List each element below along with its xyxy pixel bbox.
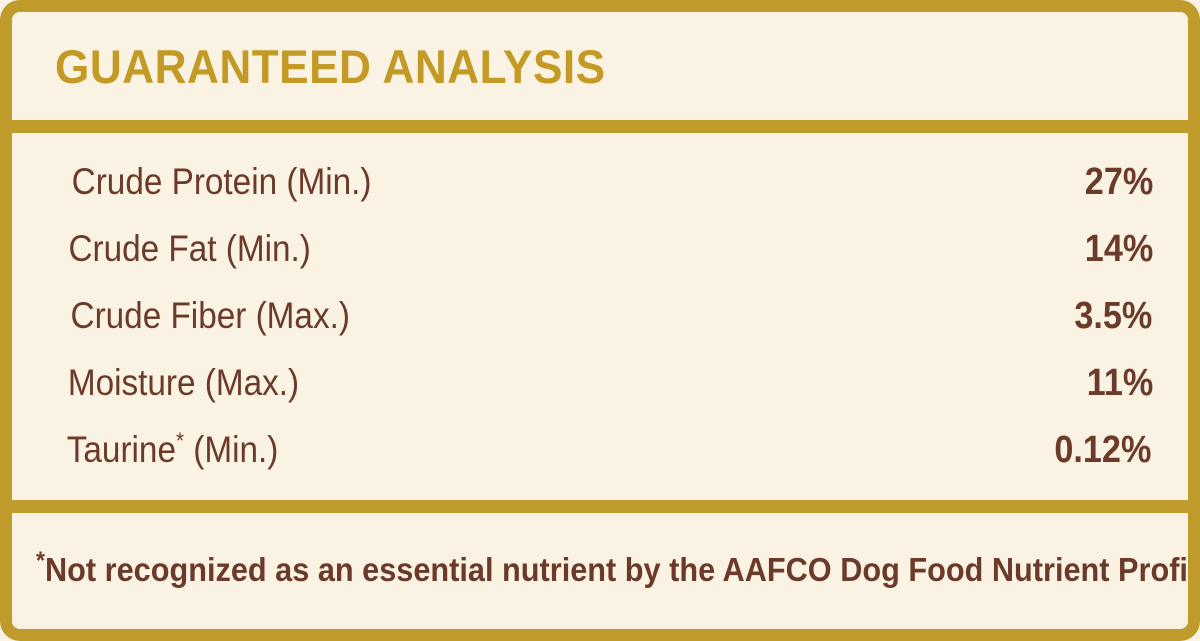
footnote-marker-icon: * [36, 548, 45, 575]
footnote-section: *Not recognized as an essential nutrient… [12, 513, 1188, 626]
nutrient-label: Taurine* (Min.) [67, 431, 279, 468]
footnote: *Not recognized as an essential nutrient… [36, 553, 1200, 586]
table-row: Crude Fiber (Max.) 3.5% [55, 297, 1157, 364]
nutrient-value: 11% [1087, 364, 1154, 402]
nutrient-value: 0.12% [1055, 431, 1152, 469]
nutrient-label: Crude Fiber (Max.) [71, 297, 350, 334]
header-divider [12, 120, 1188, 133]
analysis-table: Crude Protein (Min.) 27% Crude Fat (Min.… [12, 133, 1188, 500]
nutrient-label-text: Taurine [67, 429, 176, 470]
table-row: Crude Fat (Min.) 14% [55, 230, 1157, 297]
page-title: GUARANTEED ANALYSIS [55, 43, 606, 90]
footnote-divider [12, 500, 1188, 513]
table-row: Crude Protein (Min.) 27% [55, 163, 1157, 230]
guaranteed-analysis-panel: GUARANTEED ANALYSIS Crude Protein (Min.)… [0, 0, 1200, 641]
table-row: Taurine* (Min.) 0.12% [55, 431, 1157, 498]
panel-header: GUARANTEED ANALYSIS [12, 12, 1188, 120]
nutrient-value: 27% [1085, 163, 1153, 201]
footnote-body: Not recognized as an essential nutrient … [45, 551, 1200, 588]
nutrient-label-suffix: (Min.) [184, 429, 278, 470]
nutrient-label: Crude Fat (Min.) [68, 230, 310, 267]
nutrient-value: 14% [1085, 230, 1153, 268]
table-row: Moisture (Max.) 11% [55, 364, 1157, 431]
nutrient-label: Moisture (Max.) [68, 364, 299, 401]
nutrient-value: 3.5% [1075, 297, 1153, 335]
nutrient-label: Crude Protein (Min.) [72, 163, 372, 200]
